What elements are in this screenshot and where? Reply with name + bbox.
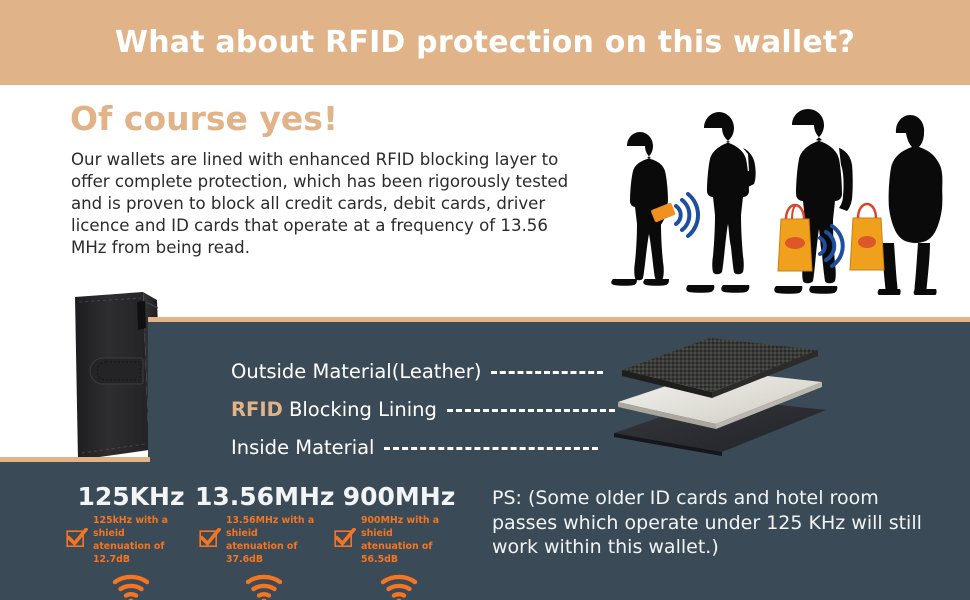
- checkbox-checked-icon: [199, 528, 221, 554]
- frequency-note-1356mhz: 13.56MHz with a shieid atenuation of 37.…: [195, 515, 333, 567]
- ps-note-text: PS: (Some older ID cards and hotel room …: [492, 486, 944, 560]
- page-title: What about RFID protection on this walle…: [115, 25, 855, 60]
- rfid-highlight: RFID: [231, 398, 283, 421]
- frequency-note-text-900mhz: 900MHz with a shieid atenuation of 56.5d…: [361, 515, 468, 567]
- layer-row-rfid: RFID Blocking Lining: [231, 390, 661, 428]
- frequency-results-group: 125KHz 125kHz with a shieid atenuation o…: [62, 484, 482, 594]
- layer-label-outside: Outside Material(Leather): [231, 360, 481, 383]
- leader-line-rfid: [447, 409, 615, 412]
- frequency-note-125khz: 125kHz with a shieid atenuation of 12.7d…: [62, 515, 200, 567]
- intro-body-text: Our wallets are lined with enhanced RFID…: [71, 149, 581, 259]
- checkbox-checked-icon: [66, 528, 88, 554]
- people-silhouettes-illustration: [596, 100, 964, 295]
- wifi-signal-icon: [195, 573, 333, 600]
- frequency-title-125khz: 125KHz: [62, 484, 200, 509]
- layer-row-inside: Inside Material: [231, 428, 661, 466]
- frequency-note-900mhz: 900MHz with a shieid atenuation of 56.5d…: [330, 515, 468, 567]
- layer-label-rfid-rest: Blocking Lining: [283, 398, 437, 421]
- intro-heading: Of course yes!: [70, 99, 338, 138]
- frequency-title-900mhz: 900MHz: [330, 484, 468, 509]
- frequency-column-900mhz: 900MHz 900MHz with a shieid atenuation o…: [330, 484, 468, 600]
- wifi-signal-icon: [62, 573, 200, 600]
- wifi-signal-icon: [330, 573, 468, 600]
- checkbox-checked-icon: [334, 528, 356, 554]
- layer-label-rfid: RFID Blocking Lining: [231, 398, 437, 421]
- leader-line-inside: [384, 447, 598, 450]
- frequency-note-text-125khz: 125kHz with a shieid atenuation of 12.7d…: [93, 515, 200, 567]
- frequency-column-1356mhz: 13.56MHz 13.56MHz with a shieid atenuati…: [195, 484, 333, 600]
- material-layer-stack-illustration: [604, 330, 884, 470]
- infographic-page: What about RFID protection on this walle…: [0, 0, 970, 600]
- material-layer-callouts: Outside Material(Leather) RFID Blocking …: [231, 352, 661, 466]
- layer-label-inside: Inside Material: [231, 436, 374, 459]
- frequency-note-text-1356mhz: 13.56MHz with a shieid atenuation of 37.…: [226, 515, 333, 567]
- leader-line-outside: [491, 371, 603, 374]
- layer-row-outside: Outside Material(Leather): [231, 352, 661, 390]
- frequency-column-125khz: 125KHz 125kHz with a shieid atenuation o…: [62, 484, 200, 600]
- header-band: What about RFID protection on this walle…: [0, 0, 970, 85]
- frequency-title-1356mhz: 13.56MHz: [195, 484, 333, 509]
